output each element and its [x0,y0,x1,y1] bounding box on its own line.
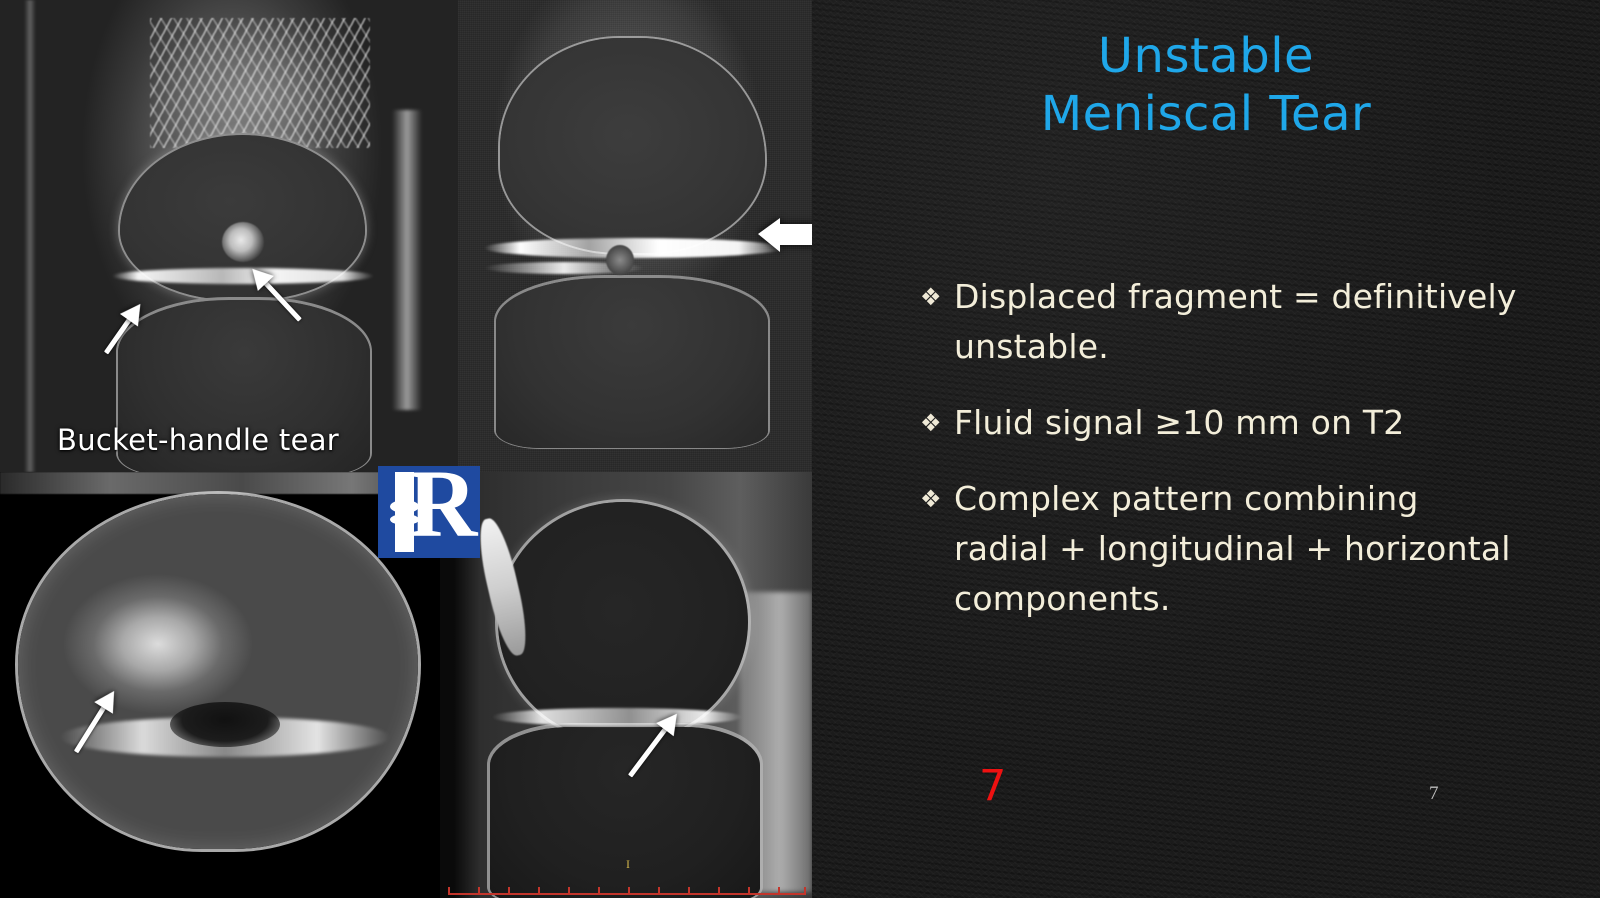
red-slide-number: 7 [979,765,1006,808]
page-number: 7 [1429,784,1439,803]
image-caption-bucket-handle: Bucket-handle tear [57,423,339,457]
page-title: Unstable Meniscal Tear [812,27,1600,143]
mri-panel-parrot-beak[interactable]: Parrot-Beak tear [0,472,440,898]
list-item: ❖ Fluid signal ≥10 mm on T2 [920,398,1520,448]
mri-panel-ramp-lesion[interactable]: I Ramp lesion [440,472,812,898]
mri-axial-parrot-beak-image [0,472,440,898]
radiology-logo[interactable]: R [378,466,480,558]
mri-panel-bucket-handle[interactable]: Bucket-handle tear [0,0,458,472]
mri-coronal-bucket-handle-image [0,0,458,472]
mri-panel-flap-tear[interactable]: Flap tear [458,0,812,472]
diamond-bullet-icon: ❖ [920,398,954,448]
slide: Bucket-handle tear Flap tear [0,0,1600,898]
orientation-marker-label: I [626,857,630,872]
mri-sagittal-ramp-lesion-image: I [440,472,812,898]
bullet-list: ❖ Displaced fragment = definitively unst… [920,272,1520,650]
page-title-line2: Meniscal Tear [812,85,1600,143]
scale-ruler [448,887,806,895]
page-title-line1: Unstable [812,27,1600,85]
list-item-text: Complex pattern combining radial + longi… [954,474,1520,624]
content-panel: Unstable Meniscal Tear ❖ Displaced fragm… [812,0,1600,898]
list-item: ❖ Complex pattern combining radial + lon… [920,474,1520,624]
list-item-text: Fluid signal ≥10 mm on T2 [954,398,1520,448]
diamond-bullet-icon: ❖ [920,272,954,322]
list-item-text: Displaced fragment = definitively unstab… [954,272,1520,372]
mri-image-grid: Bucket-handle tear Flap tear [0,0,812,898]
list-item: ❖ Displaced fragment = definitively unst… [920,272,1520,372]
logo-letter: R [408,466,477,552]
diamond-bullet-icon: ❖ [920,474,954,524]
annotation-block-arrow-icon [758,218,812,266]
